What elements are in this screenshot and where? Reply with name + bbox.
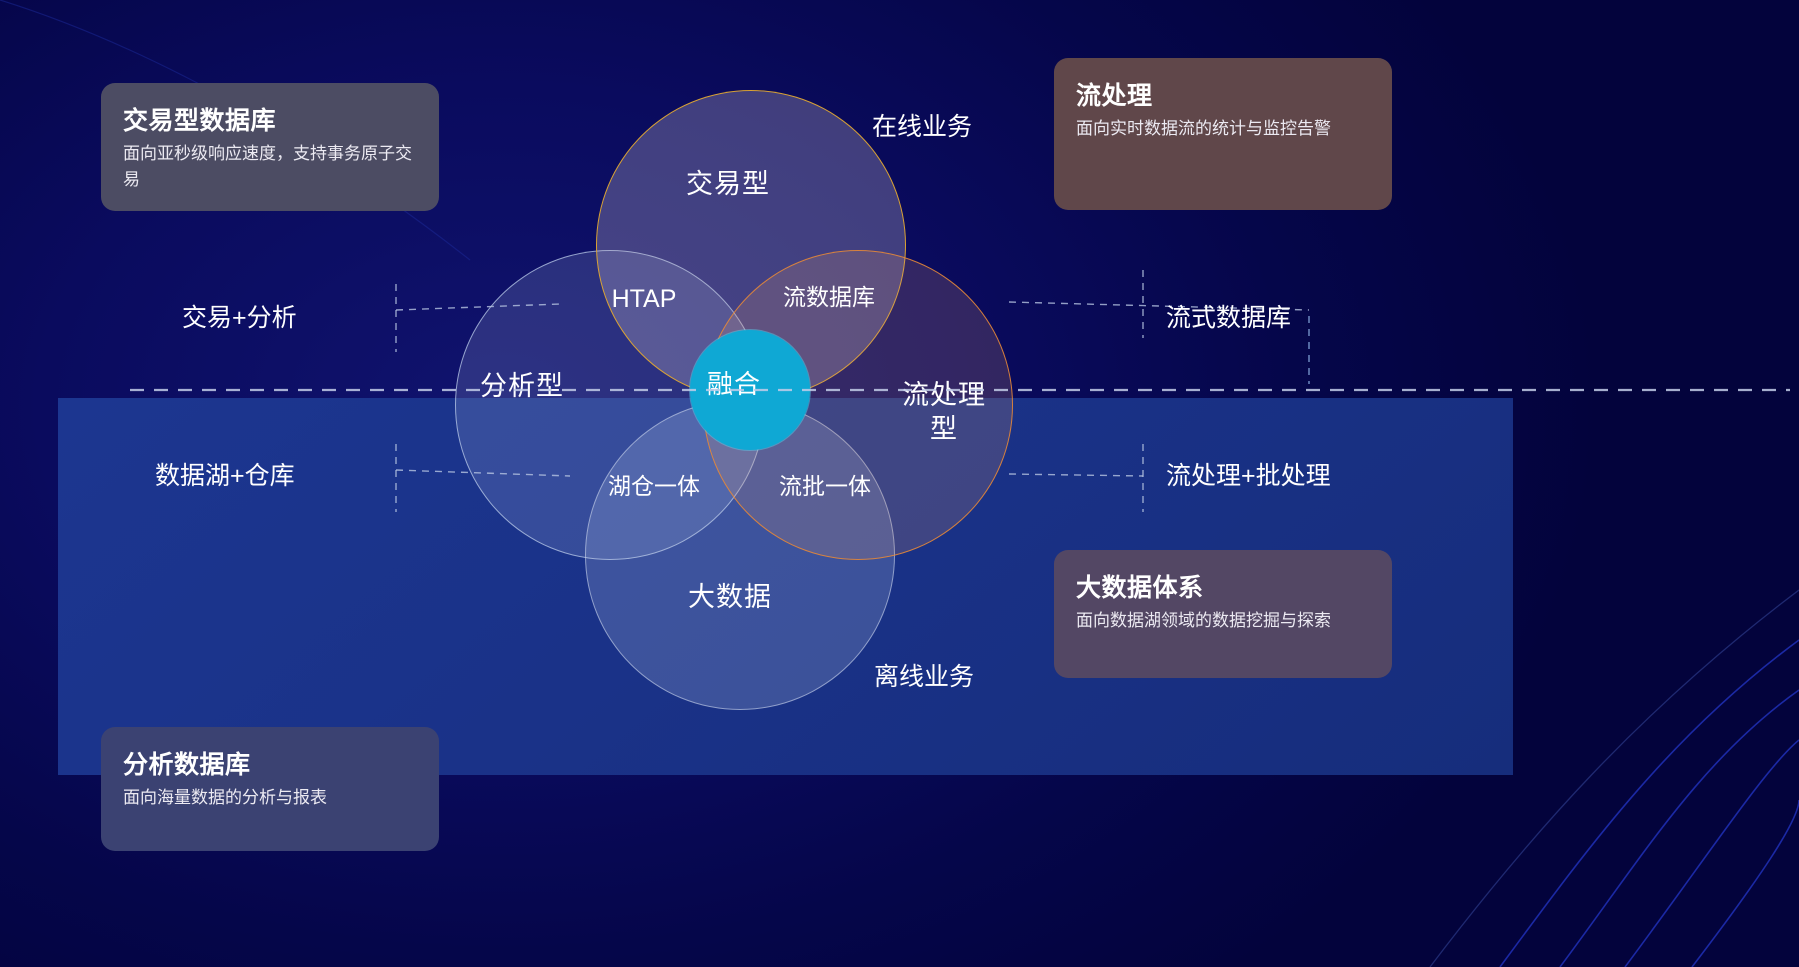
intersection-label-htap: HTAP xyxy=(598,283,690,316)
connector-label-left-top: 交易+分析 xyxy=(182,298,297,334)
intersection-label-lakehouse: 湖仓一体 xyxy=(608,472,700,502)
circle-label-transactional: 交易型 xyxy=(686,168,770,202)
card-title: 大数据体系 xyxy=(1076,568,1370,604)
connector-label-right-bottom: 流处理+批处理 xyxy=(1166,456,1331,492)
circle-label-streaming: 流处理型 xyxy=(896,379,992,447)
circle-label-core-fusion: 融合 xyxy=(707,368,761,401)
connector-label-left-bottom: 数据湖+仓库 xyxy=(155,456,295,492)
card-title: 分析数据库 xyxy=(123,745,417,781)
card-transactional-database[interactable]: 交易型数据库 面向亚秒级响应速度，支持事务原子交易 xyxy=(101,83,439,211)
diagram-canvas: 交易型 分析型 流处理型 大数据 融合 HTAP 流数据库 湖仓一体 流批一体 … xyxy=(0,0,1799,967)
card-bigdata-system[interactable]: 大数据体系 面向数据湖领域的数据挖掘与探索 xyxy=(1054,550,1392,678)
card-description: 面向海量数据的分析与报表 xyxy=(123,785,417,811)
circle-label-bigdata: 大数据 xyxy=(688,581,772,615)
card-description: 面向数据湖领域的数据挖掘与探索 xyxy=(1076,608,1370,634)
circle-label-analytical: 分析型 xyxy=(480,370,564,404)
card-title: 流处理 xyxy=(1076,76,1370,112)
card-analytical-database[interactable]: 分析数据库 面向海量数据的分析与报表 xyxy=(101,727,439,851)
intersection-label-stream-db: 流数据库 xyxy=(783,283,875,313)
card-stream-processing[interactable]: 流处理 面向实时数据流的统计与监控告警 xyxy=(1054,58,1392,210)
connector-label-right-top: 流式数据库 xyxy=(1166,298,1291,334)
card-description: 面向实时数据流的统计与监控告警 xyxy=(1076,116,1370,142)
card-title: 交易型数据库 xyxy=(123,101,417,137)
outer-label-online: 在线业务 xyxy=(872,107,972,143)
intersection-label-stream-batch: 流批一体 xyxy=(779,472,871,502)
card-description: 面向亚秒级响应速度，支持事务原子交易 xyxy=(123,141,417,194)
outer-label-offline: 离线业务 xyxy=(874,657,974,693)
